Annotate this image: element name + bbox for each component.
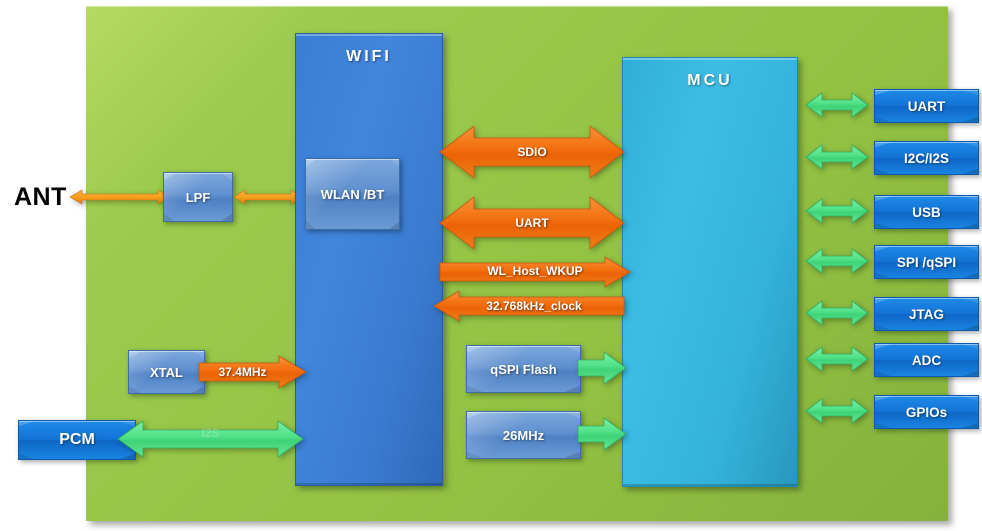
qspi-flash-block: qSPI Flash (466, 345, 581, 393)
mcu-clock-block: 26MHz (466, 411, 581, 459)
peripheral-label-gpios: GPIOs (875, 396, 978, 428)
peripheral-label-uart: UART (875, 90, 978, 122)
arrow-xtal-37p4mhz: 37.4MHz (199, 356, 306, 388)
peripheral-block-gpios[interactable]: GPIOs (874, 395, 979, 429)
arrow-peripheral-i2c-i2s (806, 142, 868, 172)
xtal-block: XTAL (128, 350, 205, 394)
arrow-ant-to-lpf (70, 188, 170, 206)
arrow-26mhz-to-mcu (578, 418, 626, 450)
arrow-sdio: SDIO (440, 124, 624, 180)
peripheral-label-adc: ADC (875, 344, 978, 376)
mcu-clock-label: 26MHz (467, 412, 580, 458)
mcu-block: MCU (622, 57, 798, 487)
arrow-32768khz-clock: 32.768kHz_clock (434, 291, 624, 321)
peripheral-label-spi: SPI /qSPI (875, 246, 978, 278)
arrow-uart: UART (440, 195, 624, 251)
arrow-peripheral-usb (806, 196, 868, 226)
wifi-title: WIFI (296, 48, 442, 66)
arrow-qspi-flash-to-mcu (578, 352, 626, 384)
peripheral-block-adc[interactable]: ADC (874, 343, 979, 377)
lpf-label: LPF (164, 173, 232, 221)
xtal-label: XTAL (129, 351, 204, 393)
peripheral-block-uart[interactable]: UART (874, 89, 979, 123)
arrow-peripheral-jtag (806, 298, 868, 328)
arrow-peripheral-adc (806, 344, 868, 374)
peripheral-block-spi[interactable]: SPI /qSPI (874, 245, 979, 279)
qspi-flash-label: qSPI Flash (467, 346, 580, 392)
arrow-peripheral-spi (806, 246, 868, 276)
block-diagram-canvas: ANT LPF WIFI WLAN /BT MCU (0, 0, 982, 531)
mcu-title: MCU (623, 72, 797, 90)
arrow-pcm-i2s: I2S (118, 415, 303, 463)
arrow-wl-host-wkup: WL_Host_WKUP (440, 257, 630, 287)
peripheral-block-usb[interactable]: USB (874, 195, 979, 229)
arrow-peripheral-uart (806, 90, 868, 120)
peripheral-label-jtag: JTAG (875, 298, 978, 330)
arrow-lpf-to-wlan (234, 188, 302, 206)
wifi-block: WIFI (295, 33, 443, 486)
arrow-peripheral-gpios (806, 396, 868, 426)
peripheral-block-i2c-i2s[interactable]: I2C/I2S (874, 141, 979, 175)
ant-label: ANT (14, 183, 67, 212)
wlan-bt-block: WLAN /BT (305, 158, 400, 230)
peripheral-block-jtag[interactable]: JTAG (874, 297, 979, 331)
wlan-bt-label: WLAN /BT (306, 159, 399, 229)
peripheral-label-usb: USB (875, 196, 978, 228)
peripheral-label-i2c-i2s: I2C/I2S (875, 142, 978, 174)
lpf-block: LPF (163, 172, 233, 222)
